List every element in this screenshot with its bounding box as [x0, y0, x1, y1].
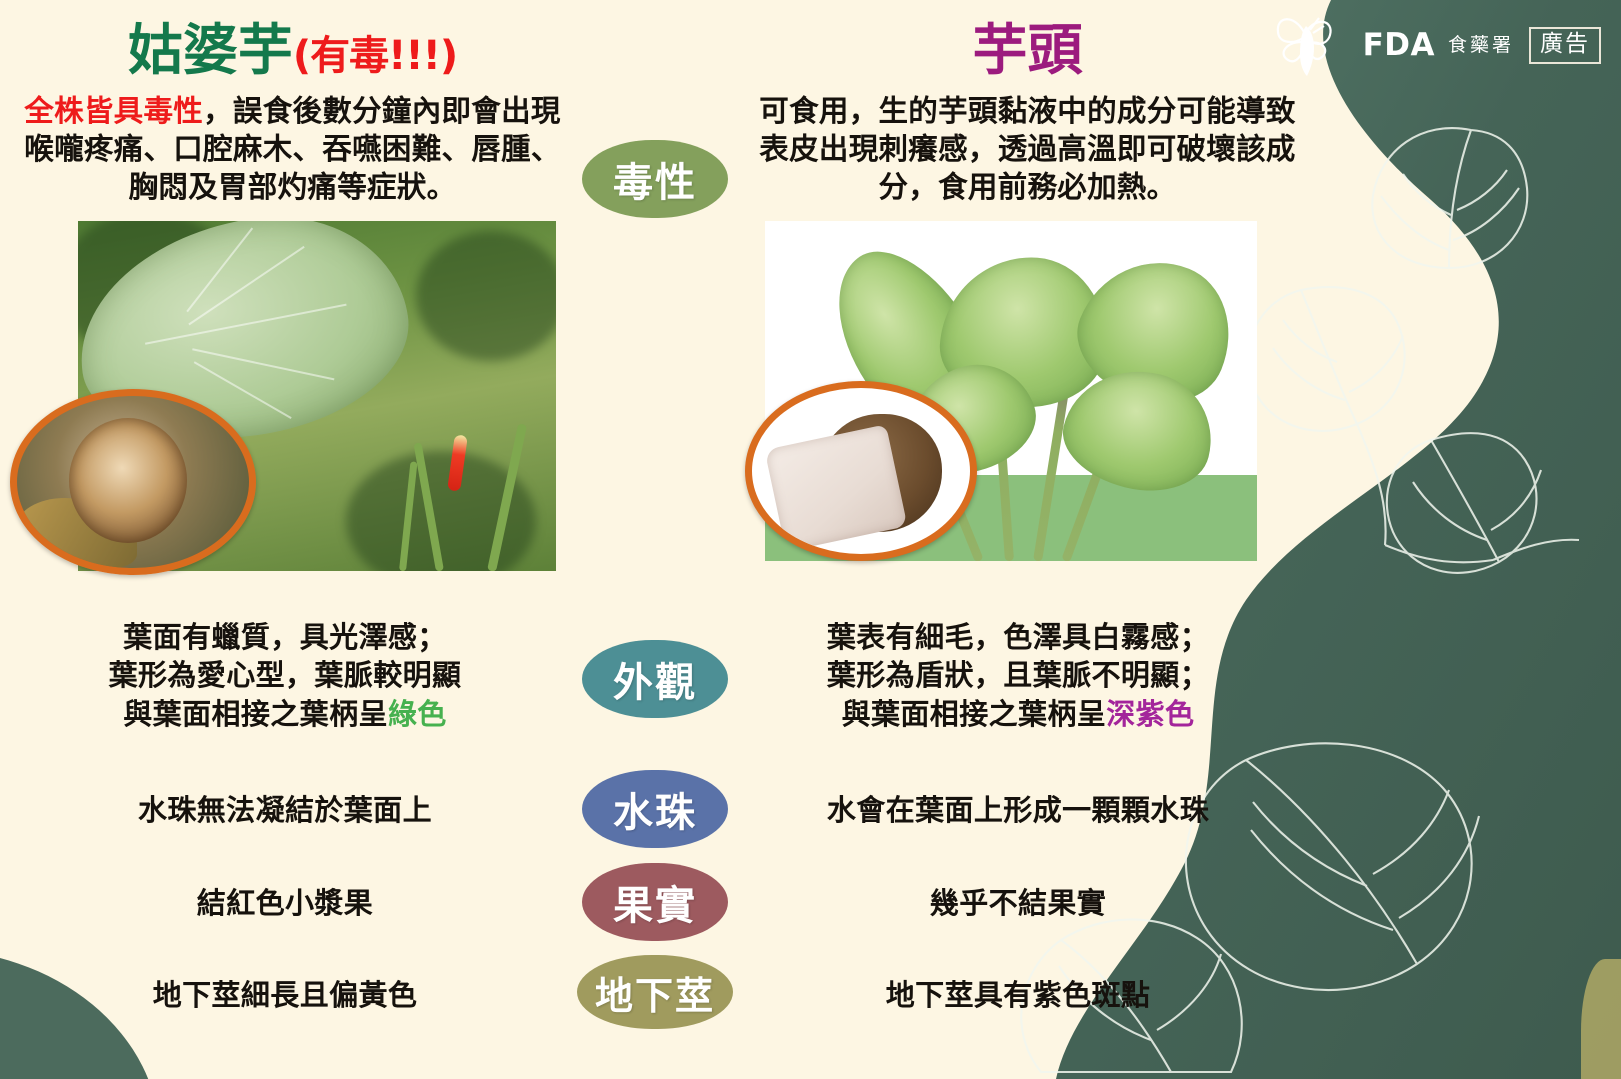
left-title-warning: (有毒!!!) [293, 33, 457, 79]
category-pill-rhizome[interactable]: 地下莖 [577, 955, 733, 1029]
category-pill-label: 果實 [613, 873, 697, 931]
right-rhizome-text: 地下莖具有紫色斑點 [738, 976, 1298, 1014]
fda-abbr-label: FDA [1363, 30, 1435, 61]
category-pill-label: 毒性 [613, 150, 697, 208]
left-appearance-line3-pre: 與葉面相接之葉柄呈 [123, 697, 388, 731]
right-appearance-text: 葉表有細毛，色澤具白霧感； 葉形為盾狀，且葉脈不明顯； 與葉面相接之葉柄呈深紫色 [738, 618, 1298, 733]
infographic-poster: FDA 食藥署 廣告 姑婆芋(有毒!!!) 全株皆具毒性，誤食後數分鐘內即會出現… [0, 0, 1621, 1079]
butterfly-icon [1270, 8, 1354, 82]
left-plant-title: 姑婆芋(有毒!!!) [0, 22, 585, 80]
category-pill-appearance[interactable]: 外觀 [582, 640, 728, 718]
left-toxicity-bold: 全株皆具毒性 [24, 94, 203, 128]
right-petiole-color: 深紫色 [1106, 697, 1194, 731]
butterfly-taiwan-icon [1270, 8, 1354, 82]
right-appearance-line2: 葉形為盾狀，且葉脈不明顯； [738, 656, 1298, 694]
category-pill-waterdrop[interactable]: 水珠 [582, 770, 728, 848]
left-rhizome-inset-photo [10, 389, 256, 575]
left-title-text: 姑婆芋 [128, 18, 293, 82]
right-plant-title: 芋頭 [735, 22, 1320, 80]
left-toxicity-description: 全株皆具毒性，誤食後數分鐘內即會出現喉嚨疼痛、口腔麻木、吞嚥困難、唇腫、胸悶及胃… [0, 92, 585, 207]
left-appearance-line3: 與葉面相接之葉柄呈綠色 [5, 695, 565, 733]
right-photo-wrap [735, 221, 1320, 561]
category-pill-toxicity[interactable]: 毒性 [582, 140, 728, 218]
left-waterdrop-text: 水珠無法凝結於葉面上 [5, 791, 565, 829]
left-fruit-text: 結紅色小漿果 [5, 884, 565, 922]
left-petiole-color: 綠色 [388, 697, 447, 731]
left-appearance-line1: 葉面有蠟質，具光澤感； [5, 618, 565, 656]
right-waterdrop-text: 水會在葉面上形成一顆顆水珠 [738, 791, 1298, 829]
right-appearance-line3: 與葉面相接之葉柄呈深紫色 [738, 695, 1298, 733]
fda-agency-label: 食藥署 [1448, 36, 1514, 55]
ad-label-box: 廣告 [1529, 27, 1601, 64]
right-appearance-line1: 葉表有細毛，色澤具白霧感； [738, 618, 1298, 656]
right-corm-inset-photo [745, 381, 977, 561]
right-fruit-text: 幾乎不結果實 [738, 884, 1298, 922]
category-pill-label: 地下莖 [595, 965, 715, 1020]
left-rhizome-text: 地下莖細長且偏黃色 [5, 976, 565, 1014]
category-pill-fruit[interactable]: 果實 [582, 863, 728, 941]
fda-logo: FDA 食藥署 廣告 [1270, 8, 1601, 82]
category-pill-label: 外觀 [613, 650, 697, 708]
right-appearance-line3-pre: 與葉面相接之葉柄呈 [842, 697, 1107, 731]
left-photo-wrap [0, 221, 585, 571]
left-appearance-text: 葉面有蠟質，具光澤感； 葉形為愛心型，葉脈較明顯 與葉面相接之葉柄呈綠色 [5, 618, 565, 733]
category-pill-label: 水珠 [613, 780, 697, 838]
right-toxicity-description: 可食用，生的芋頭黏液中的成分可能導致表皮出現刺癢感，透過高溫即可破壞該成分，食用… [735, 92, 1320, 207]
left-appearance-line2: 葉形為愛心型，葉脈較明顯 [5, 656, 565, 694]
